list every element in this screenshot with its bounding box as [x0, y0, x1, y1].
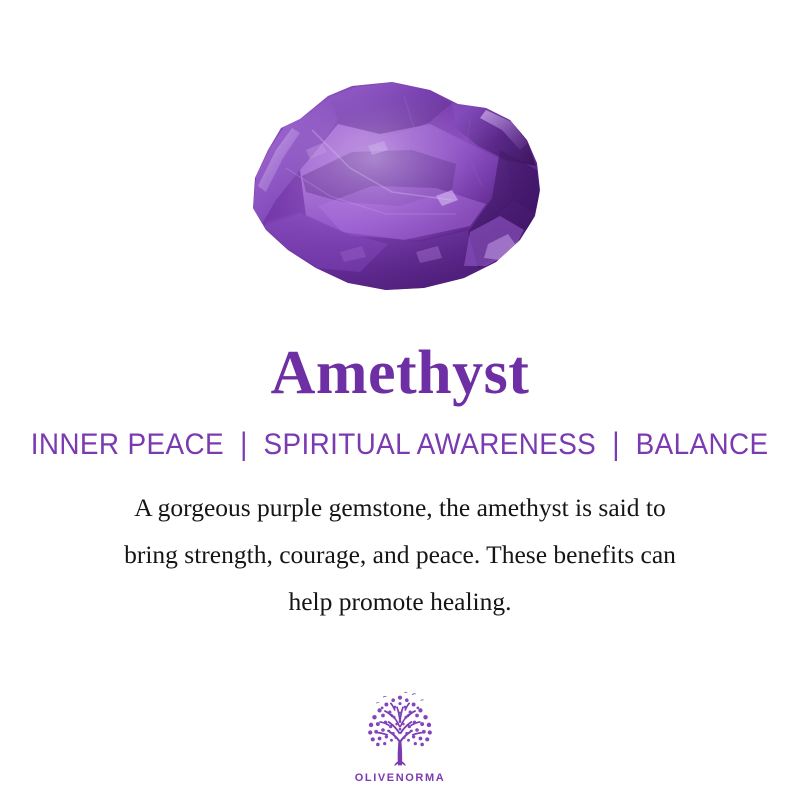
keyword-balance: BALANCE [636, 428, 769, 461]
amethyst-raw-crystal-icon [0, 0, 800, 320]
description-text: A gorgeous purple gemstone, the amethyst… [50, 460, 750, 625]
keyword-list: INNER PEACE | SPIRITUAL AWARENESS | BALA… [31, 404, 769, 460]
page-title: Amethyst [271, 320, 530, 404]
keyword-spiritual-awareness: SPIRITUAL AWARENESS [264, 428, 597, 461]
brand-wordmark: OLIVENORMA [355, 772, 446, 784]
tree-of-life-icon [357, 690, 443, 770]
amethyst-info-card: Amethyst INNER PEACE | SPIRITUAL AWARENE… [0, 0, 800, 800]
gemstone-image-container [0, 0, 800, 320]
brand-logo: OLIVENORMA [330, 690, 470, 784]
keyword-separator-1: | [232, 429, 256, 461]
description-line-2: bring strength, courage, and peace. Thes… [50, 531, 750, 578]
gem-facets [240, 70, 560, 300]
keyword-separator-2: | [604, 429, 628, 461]
description-line-3: help promote healing. [50, 578, 750, 625]
description-line-1: A gorgeous purple gemstone, the amethyst… [50, 484, 750, 531]
keyword-inner-peace: INNER PEACE [31, 428, 224, 461]
